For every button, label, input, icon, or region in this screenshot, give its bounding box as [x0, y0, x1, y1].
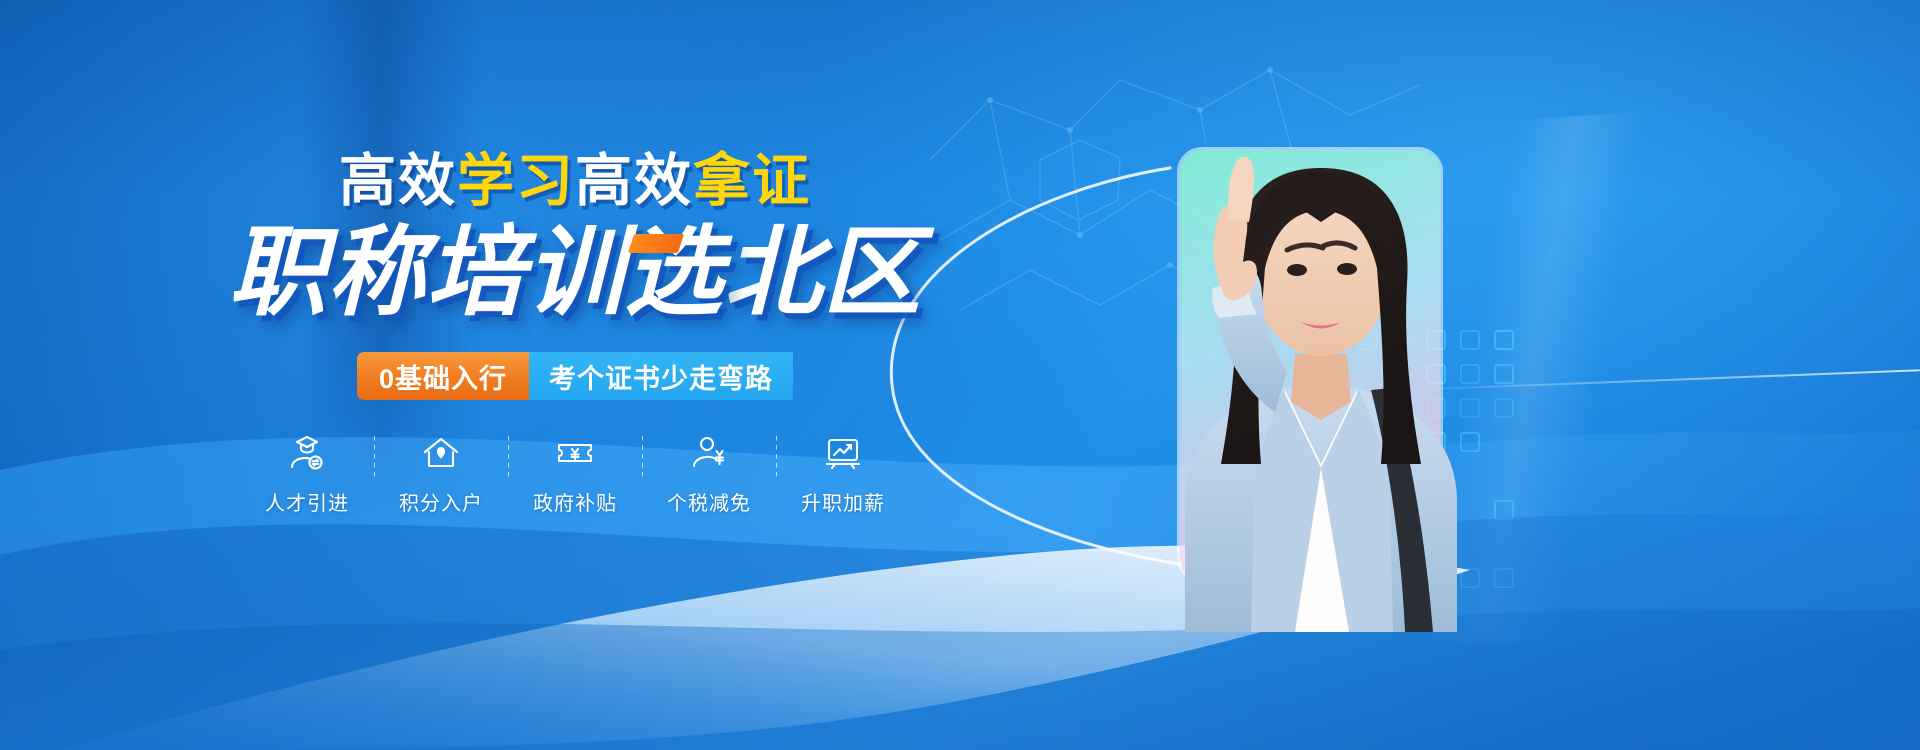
feature-item-0[interactable]: 人才引进: [241, 430, 374, 516]
house-pin-icon: [421, 430, 461, 476]
tagline-pill-row: 0基础入行 考个证书少走弯路: [0, 352, 1150, 400]
sub-headline-segment-2: 高效: [575, 149, 693, 213]
feature-label: 个税减免: [667, 487, 751, 516]
person-yuan-icon: [689, 430, 729, 476]
graduate-person-icon: [287, 430, 327, 476]
main-headline: 职称培训选北区: [0, 218, 1150, 328]
coupon-yuan-icon: [555, 430, 595, 476]
main-headline-accent-char: 选: [624, 218, 723, 328]
promo-banner: 高效学习高效拿证 职称培训选北区 0基础入行 考个证书少走弯路 人才引进积分入户…: [0, 0, 1920, 750]
pill-secondary[interactable]: 考个证书少走弯路: [529, 352, 793, 400]
feature-list: 人才引进积分入户政府补贴个税减免升职加薪: [0, 430, 1150, 516]
feature-item-4[interactable]: 升职加薪: [777, 430, 910, 516]
growth-chart-icon: [823, 430, 863, 476]
feature-label: 政府补贴: [533, 487, 617, 516]
sub-headline: 高效学习高效拿证: [0, 152, 1150, 212]
feature-label: 人才引进: [265, 487, 349, 516]
main-headline-after: 北区: [724, 217, 922, 327]
feature-item-3[interactable]: 个税减免: [643, 430, 776, 516]
feature-item-2[interactable]: 政府补贴: [509, 430, 642, 516]
sub-headline-segment-0: 高效: [339, 149, 457, 213]
orange-accent-stroke: [628, 234, 684, 253]
feature-item-1[interactable]: 积分入户: [375, 430, 508, 516]
sub-headline-segment-3: 拿证: [693, 149, 811, 213]
feature-label: 积分入户: [399, 487, 483, 516]
main-headline-before: 职称培训: [228, 217, 624, 327]
pill-primary[interactable]: 0基础入行: [357, 352, 529, 400]
banner-content: 高效学习高效拿证 职称培训选北区 0基础入行 考个证书少走弯路 人才引进积分入户…: [0, 0, 1150, 750]
feature-label: 升职加薪: [801, 487, 885, 516]
sub-headline-segment-1: 学习: [457, 149, 575, 213]
presenter-photo: [1125, 72, 1515, 632]
